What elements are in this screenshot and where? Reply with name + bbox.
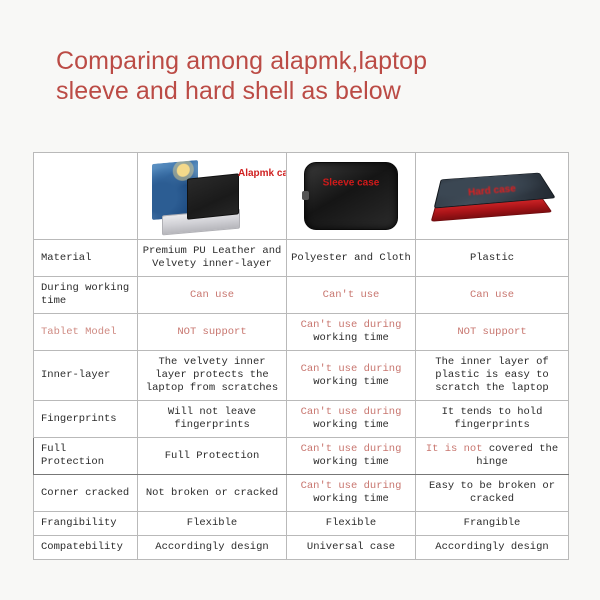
table-row: MaterialPremium PU Leather and Velvety i… [34,240,569,277]
cell-text-normal: working time [313,493,389,505]
cell-text-emphasis: It is not [426,443,483,455]
alapmk-image-frame: Alapmk case [138,153,286,239]
cell-hard-5: It tends to hold fingerprints [416,401,569,438]
cell-alapmk-5: Will not leave fingerprints [138,401,287,438]
cell-alapmk-1: Premium PU Leather and Velvety inner-lay… [138,240,287,277]
cell-hard-6: It is not covered the hinge [416,438,569,475]
row-label-text: Compatebility [41,541,123,553]
cell-text: NOT support [457,326,526,338]
laptop-screen-icon [187,173,239,219]
cell-text-emphasis: Can't use during [301,480,402,492]
cell-sleeve-6: Can't use during working time [287,438,416,475]
row-label-3: Tablet Model [34,314,138,351]
cell-text-emphasis: Can't use during [301,319,402,331]
cell-hard-1: Plastic [416,240,569,277]
cell-hard-2: Can use [416,277,569,314]
cell-hard-4: The inner layer of plastic is easy to sc… [416,351,569,401]
cell-text: Accordingly design [435,541,548,553]
table-row: FrangibilityFlexibleFlexibleFrangible [34,512,569,536]
row-label-text: Fingerprints [41,413,117,425]
cell-text: Universal case [307,541,395,553]
row-label-1: Material [34,240,138,277]
cell-hard-3: NOT support [416,314,569,351]
hard-shell-icon: Hard case [433,164,551,228]
table-row: During working timeCan useCan't useCan u… [34,277,569,314]
row-label-8: Frangibility [34,512,138,536]
cell-alapmk-3: NOT support [138,314,287,351]
table-row: Tablet ModelNOT supportCan't use during … [34,314,569,351]
table-body: Alapmk case Sleeve case [34,153,569,560]
cell-alapmk-8: Flexible [138,512,287,536]
sleeve-product-label: Sleeve case [323,176,380,189]
cell-text: Not broken or cracked [146,487,278,499]
table-row: Corner crackedNot broken or crackedCan't… [34,475,569,512]
cell-text: Easy to be broken or cracked [429,480,555,505]
comparison-table: Alapmk case Sleeve case [33,152,569,560]
sleeve-case-icon: Sleeve case [304,162,398,230]
cell-text-normal: working time [313,376,389,388]
row-label-4: Inner-layer [34,351,138,401]
cell-text: Full Protection [165,450,260,462]
cell-text: Premium PU Leather and Velvety inner-lay… [143,245,282,270]
cell-text: Frangible [464,517,521,529]
cell-text: Will not leave fingerprints [168,406,256,431]
cell-text-emphasis: Can't use during [301,406,402,418]
row-label-text: Corner cracked [41,487,129,499]
row-label-text: Frangibility [41,517,117,529]
cell-sleeve-8: Flexible [287,512,416,536]
cell-text: It tends to hold fingerprints [442,406,543,431]
product-image-alapmk: Alapmk case [138,153,287,240]
product-image-hard: Hard case [416,153,569,240]
cell-text: Flexible [187,517,237,529]
cell-alapmk-9: Accordingly design [138,536,287,560]
row-label-text: Full Protection [41,443,104,468]
row-label-text: Material [41,252,91,264]
cell-sleeve-1: Polyester and Cloth [287,240,416,277]
table-row: Full ProtectionFull ProtectionCan't use … [34,438,569,475]
cell-sleeve-9: Universal case [287,536,416,560]
cell-text: Can use [470,289,514,301]
cell-alapmk-6: Full Protection [138,438,287,475]
table-row: Inner-layerThe velvety inner layer prote… [34,351,569,401]
row-label-text: Tablet Model [41,326,117,338]
cell-hard-9: Accordingly design [416,536,569,560]
table-row: FingerprintsWill not leave fingerprintsC… [34,401,569,438]
comparison-infographic: Comparing among alapmk,laptop sleeve and… [0,0,600,600]
cell-sleeve-7: Can't use during working time [287,475,416,512]
cell-sleeve-4: Can't use during working time [287,351,416,401]
hard-image-frame: Hard case [416,153,568,239]
row-label-6: Full Protection [34,438,138,475]
alapmk-product-label: Alapmk case [238,167,286,180]
cell-text-emphasis: Can't use during [301,443,402,455]
row-label-5: Fingerprints [34,401,138,438]
cell-text: Accordingly design [155,541,268,553]
cell-text: Plastic [470,252,514,264]
table-row: CompatebilityAccordingly designUniversal… [34,536,569,560]
zipper-pull-icon [302,191,309,200]
cell-sleeve-5: Can't use during working time [287,401,416,438]
row-label-text: Inner-layer [41,369,110,381]
page-title: Comparing among alapmk,laptop sleeve and… [56,46,526,106]
cell-alapmk-4: The velvety inner layer protects the lap… [138,351,287,401]
cell-text: The inner layer of plastic is easy to sc… [435,356,548,394]
cell-sleeve-2: Can't use [287,277,416,314]
row-label-text: During working time [41,282,129,307]
product-image-row: Alapmk case Sleeve case [34,153,569,240]
cell-text-normal: working time [313,456,389,468]
cell-hard-8: Frangible [416,512,569,536]
row-label-9: Compatebility [34,536,138,560]
cell-text-normal: working time [313,419,389,431]
cell-text-emphasis: Can't use during [301,363,402,375]
cell-alapmk-2: Can use [138,277,287,314]
product-image-sleeve: Sleeve case [287,153,416,240]
sleeve-image-frame: Sleeve case [287,153,415,239]
cell-text: NOT support [177,326,246,338]
cell-text: Can use [190,289,234,301]
cell-hard-7: Easy to be broken or cracked [416,475,569,512]
cell-sleeve-3: Can't use during working time [287,314,416,351]
row-label-7: Corner cracked [34,475,138,512]
image-row-empty-cell [34,153,138,240]
cell-text: Polyester and Cloth [291,252,411,264]
cell-text: Can't use [323,289,380,301]
cell-alapmk-7: Not broken or cracked [138,475,287,512]
row-label-2: During working time [34,277,138,314]
cell-text-normal: covered the hinge [476,443,558,468]
cell-text-normal: working time [313,332,389,344]
laptop-illustration [152,162,238,232]
cell-text: Flexible [326,517,376,529]
cell-text: The velvety inner layer protects the lap… [146,356,278,394]
